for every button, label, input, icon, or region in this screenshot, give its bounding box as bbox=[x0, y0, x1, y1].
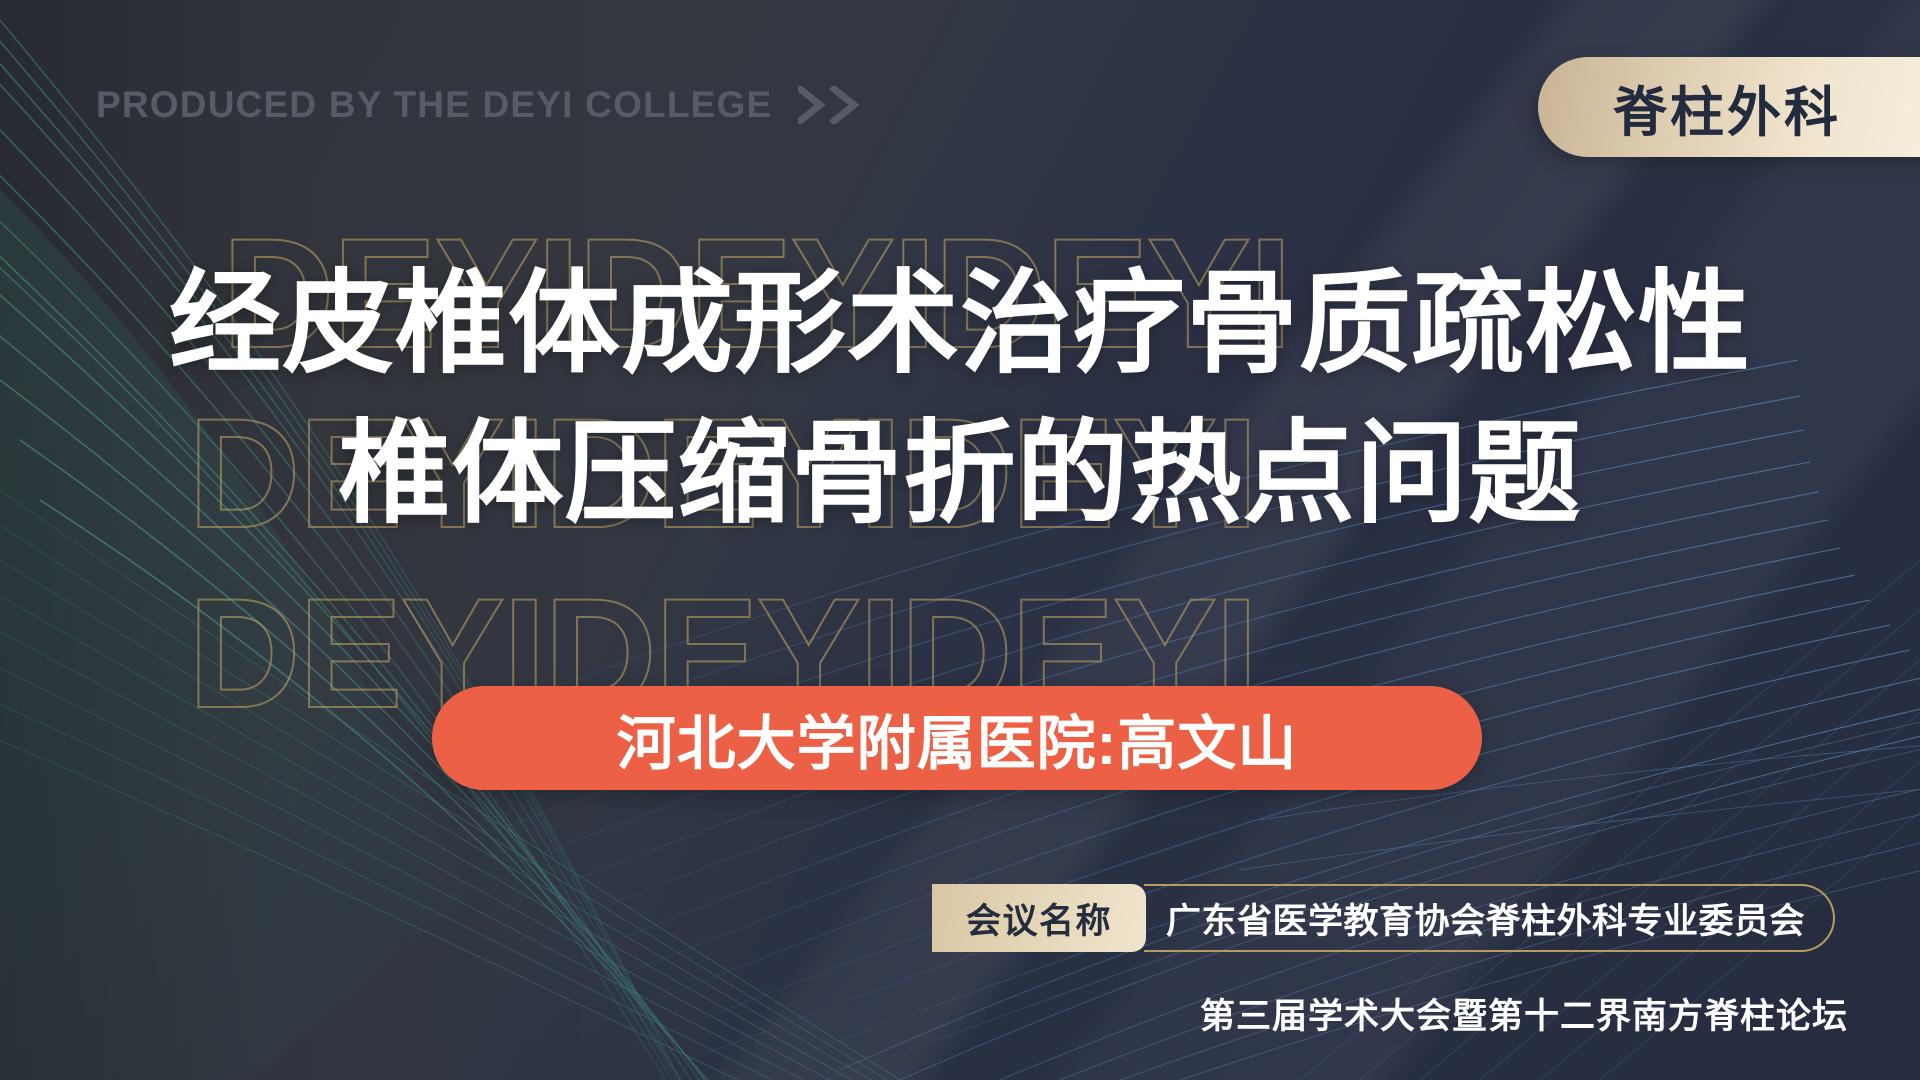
department-badge: 脊柱外科 bbox=[1538, 57, 1920, 157]
conference-subtitle: 第三届学术大会暨第十二界南方脊柱论坛 bbox=[0, 988, 1848, 1039]
conference-label-tag: 会议名称 bbox=[932, 884, 1146, 952]
speaker-affiliation-pill: 河北大学附属医院:高文山 bbox=[432, 686, 1482, 790]
department-badge-label: 脊柱外科 bbox=[1613, 68, 1883, 147]
conference-name-row: 会议名称 广东省医学教育协会脊柱外科专业委员会 bbox=[932, 884, 1835, 952]
page-title-line-2: 椎体压缩骨折的热点问题 bbox=[0, 418, 1920, 530]
conference-label-text: 会议名称 bbox=[966, 893, 1112, 944]
conference-name-box: 广东省医学教育协会脊柱外科专业委员会 bbox=[1144, 884, 1835, 952]
chevron-right-icon bbox=[798, 86, 864, 124]
producer-kicker-text: PRODUCED BY THE DEYI COLLEGE bbox=[96, 84, 772, 126]
presentation-title-slide: DEYIDEYIDEYI DEYIDEYIDEYI DEYIDEYIDEYI P… bbox=[0, 0, 1920, 1080]
double-chevron-right-icon bbox=[798, 86, 864, 124]
page-title-line-1: 经皮椎体成形术治疗骨质疏松性 bbox=[0, 268, 1920, 380]
producer-kicker: PRODUCED BY THE DEYI COLLEGE bbox=[96, 84, 864, 126]
speaker-affiliation-text: 河北大学附属医院:高文山 bbox=[617, 696, 1298, 781]
conference-name-text: 广东省医学教育协会脊柱外科专业委员会 bbox=[1166, 893, 1805, 944]
